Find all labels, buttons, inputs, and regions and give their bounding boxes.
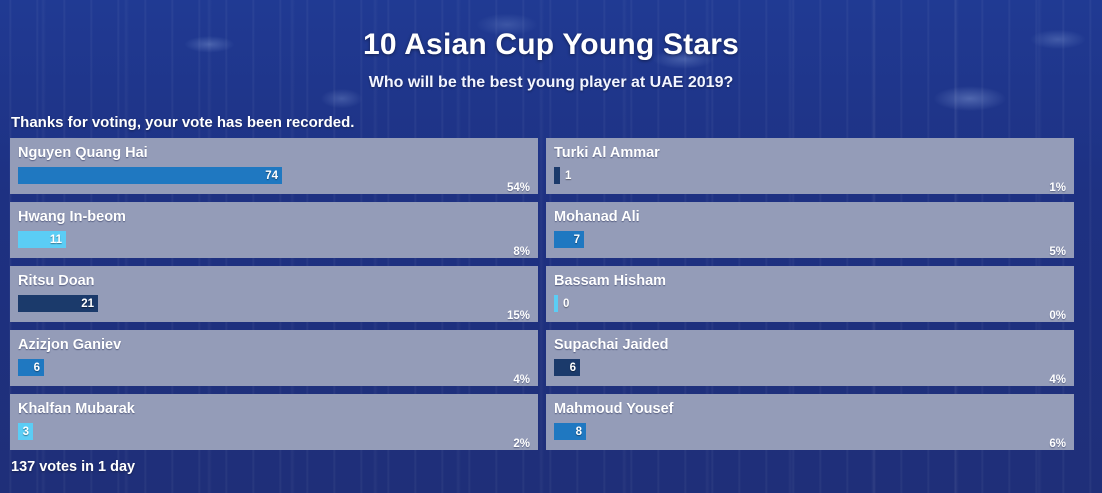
poll-option-label: Supachai Jaided bbox=[554, 336, 1066, 355]
poll-bar-track: 0 bbox=[554, 295, 1066, 312]
poll-option-result[interactable]: Khalfan Mubarak32% bbox=[10, 394, 538, 450]
poll-bar-fill: 1 bbox=[554, 167, 560, 184]
poll-bar-fill: 74 bbox=[18, 167, 282, 184]
poll-percent-label: 6% bbox=[1049, 438, 1066, 450]
poll-option-result[interactable]: Mohanad Ali75% bbox=[546, 202, 1074, 258]
poll-percent-label: 2% bbox=[513, 438, 530, 450]
poll-option-label: Khalfan Mubarak bbox=[18, 400, 530, 419]
poll-vote-count: 3 bbox=[23, 426, 33, 438]
poll-header: 10 Asian Cup Young Stars Who will be the… bbox=[0, 0, 1102, 104]
poll-option-label: Bassam Hisham bbox=[554, 272, 1066, 291]
poll-bar-track: 1 bbox=[554, 167, 1066, 184]
poll-percent-label: 4% bbox=[1049, 374, 1066, 386]
poll-vote-count: 21 bbox=[81, 298, 98, 310]
poll-vote-count: 6 bbox=[34, 362, 44, 374]
poll-option-label: Mohanad Ali bbox=[554, 208, 1066, 227]
poll-bar-fill: 7 bbox=[554, 231, 584, 248]
poll-option-label: Mahmoud Yousef bbox=[554, 400, 1066, 419]
poll-bar-fill: 11 bbox=[18, 231, 66, 248]
poll-vote-count: 1 bbox=[560, 170, 571, 182]
poll-option-result[interactable]: Supachai Jaided64% bbox=[546, 330, 1074, 386]
poll-question: Who will be the best young player at UAE… bbox=[0, 62, 1102, 92]
poll-bar-track: 21 bbox=[18, 295, 530, 312]
poll-bar-track: 6 bbox=[18, 359, 530, 376]
poll-vote-count: 7 bbox=[574, 234, 584, 246]
poll-option-result[interactable]: Ritsu Doan2115% bbox=[10, 266, 538, 322]
poll-vote-count: 0 bbox=[558, 298, 569, 310]
poll-bar-track: 74 bbox=[18, 167, 530, 184]
poll-percent-label: 8% bbox=[513, 246, 530, 258]
poll-bar-fill: 21 bbox=[18, 295, 98, 312]
poll-percent-label: 15% bbox=[507, 310, 530, 322]
poll-bar-fill: 3 bbox=[18, 423, 33, 440]
poll-option-label: Azizjon Ganiev bbox=[18, 336, 530, 355]
poll-options-grid: Nguyen Quang Hai7454%Hwang In-beom118%Ri… bbox=[10, 138, 1092, 450]
poll-vote-count: 8 bbox=[576, 426, 586, 438]
poll-option-label: Ritsu Doan bbox=[18, 272, 530, 291]
poll-bar-fill: 6 bbox=[554, 359, 580, 376]
poll-option-result[interactable]: Bassam Hisham00% bbox=[546, 266, 1074, 322]
poll-vote-count: 74 bbox=[265, 170, 282, 182]
poll-percent-label: 0% bbox=[1049, 310, 1066, 322]
poll-percent-label: 5% bbox=[1049, 246, 1066, 258]
poll-option-result[interactable]: Nguyen Quang Hai7454% bbox=[10, 138, 538, 194]
poll-column: Turki Al Ammar11%Mohanad Ali75%Bassam Hi… bbox=[546, 138, 1074, 450]
poll-bar-track: 6 bbox=[554, 359, 1066, 376]
poll-option-result[interactable]: Mahmoud Yousef86% bbox=[546, 394, 1074, 450]
vote-total-summary: 137 votes in 1 day bbox=[11, 459, 135, 475]
poll-bar-track: 8 bbox=[554, 423, 1066, 440]
poll-bar-fill: 8 bbox=[554, 423, 586, 440]
poll-bar-track: 3 bbox=[18, 423, 530, 440]
poll-bar-fill: 6 bbox=[18, 359, 44, 376]
poll-bar-track: 7 bbox=[554, 231, 1066, 248]
poll-bar-track: 11 bbox=[18, 231, 530, 248]
poll-option-label: Nguyen Quang Hai bbox=[18, 144, 530, 163]
poll-option-label: Hwang In-beom bbox=[18, 208, 530, 227]
poll-vote-count: 11 bbox=[50, 234, 66, 246]
poll-bar-fill: 0 bbox=[554, 295, 558, 312]
poll-percent-label: 1% bbox=[1049, 182, 1066, 194]
page-title: 10 Asian Cup Young Stars bbox=[0, 0, 1102, 62]
poll-option-result[interactable]: Hwang In-beom118% bbox=[10, 202, 538, 258]
poll-percent-label: 4% bbox=[513, 374, 530, 386]
poll-percent-label: 54% bbox=[507, 182, 530, 194]
poll-vote-count: 6 bbox=[570, 362, 580, 374]
poll-column: Nguyen Quang Hai7454%Hwang In-beom118%Ri… bbox=[10, 138, 538, 450]
vote-status-message: Thanks for voting, your vote has been re… bbox=[11, 114, 354, 131]
poll-option-result[interactable]: Turki Al Ammar11% bbox=[546, 138, 1074, 194]
poll-widget: 10 Asian Cup Young Stars Who will be the… bbox=[0, 0, 1102, 493]
poll-option-label: Turki Al Ammar bbox=[554, 144, 1066, 163]
poll-option-result[interactable]: Azizjon Ganiev64% bbox=[10, 330, 538, 386]
